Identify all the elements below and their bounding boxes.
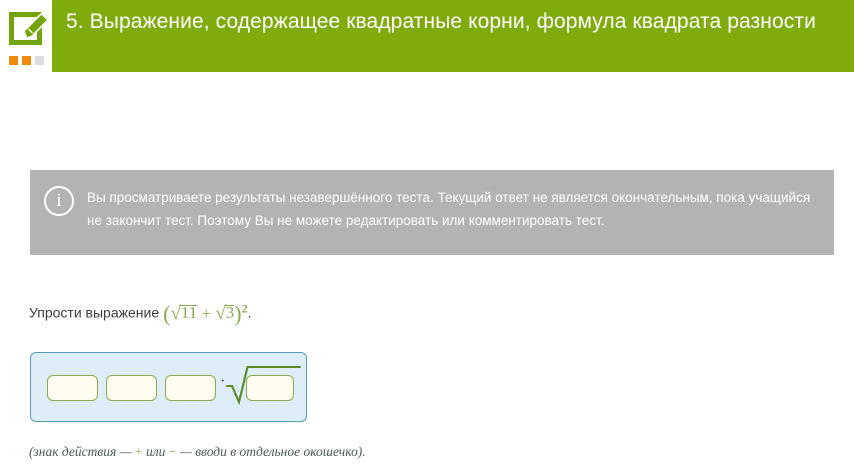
hint-prefix: (знак действия <box>29 444 120 459</box>
radical-3: √3 <box>215 304 234 324</box>
info-banner-text: Вы просматриваете результаты незавершённ… <box>87 186 814 232</box>
radical-overbar <box>180 305 197 306</box>
radical-11: √11 <box>170 304 197 324</box>
expression-close-paren: ) <box>234 301 241 326</box>
expression-operator: + <box>202 304 212 323</box>
page-header: 5. Выражение, содержащее квадратные корн… <box>0 0 854 72</box>
hint-dash-2: — <box>176 444 195 459</box>
question-prompt: Упрости выражение(√11 + √3)2. <box>29 297 252 323</box>
info-banner: i Вы просматриваете результаты незавершё… <box>30 170 834 255</box>
multiply-dot-icon: · <box>220 373 225 391</box>
answer-format-hint: (знак действия — + или − — вводи в отдел… <box>29 444 366 460</box>
icon-progress-dots <box>9 52 49 61</box>
answer-input-panel[interactable]: · <box>30 352 307 422</box>
header-title-bar: 5. Выражение, содержащее квадратные корн… <box>52 0 854 72</box>
hint-suffix: вводи в отдельное окошечко). <box>195 444 365 459</box>
multiplier-input[interactable] <box>165 375 216 401</box>
hint-plus-sign: + <box>135 444 143 459</box>
coefficient-input[interactable] <box>47 375 98 401</box>
radical-overbar <box>225 305 234 306</box>
info-icon: i <box>44 186 74 216</box>
radicand-input[interactable] <box>246 375 294 401</box>
page-title: 5. Выражение, содержащее квадратные корн… <box>66 6 844 37</box>
icon-dot-1 <box>9 56 18 65</box>
hint-middle: или <box>143 444 169 459</box>
pencil-icon <box>17 6 53 42</box>
icon-dot-2 <box>22 56 31 65</box>
expression-open-paren: ( <box>163 301 170 326</box>
icon-dot-3 <box>35 56 44 65</box>
radical-sign-icon: √ <box>170 303 180 324</box>
question-label: Упрости выражение <box>29 305 159 321</box>
question-expression: (√11 + √3)2 <box>163 304 248 323</box>
edit-document-icon <box>4 8 50 66</box>
hint-dash-1: — <box>120 444 135 459</box>
sign-input[interactable] <box>106 375 157 401</box>
expression-exponent: 2 <box>242 301 248 315</box>
radical-sign-icon: √ <box>215 303 225 324</box>
expression-period: . <box>248 305 252 321</box>
